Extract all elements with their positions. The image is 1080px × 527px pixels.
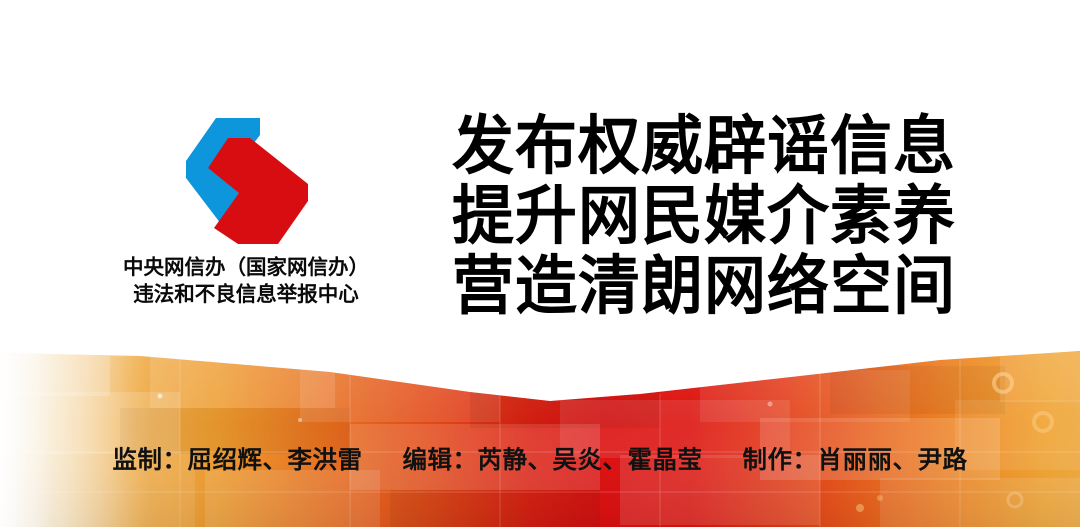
credit-supervisor-names: 屈绍辉、李洪雷: [188, 445, 363, 474]
credit-editor-label: 编辑：: [403, 445, 478, 474]
logo-caption-line-2: 违法和不良信息举报中心: [96, 281, 396, 308]
headline-block: 发布权威辟谣信息 提升网民媒介素养 营造清朗网络空间: [452, 110, 972, 320]
interlocking-chevrons-icon: [186, 118, 308, 244]
cac-logo-block: 中央网信办（国家网信办） 违法和不良信息举报中心: [96, 118, 396, 323]
credit-supervisor-label: 监制：: [113, 445, 188, 474]
headline-line-2: 提升网民媒介素养: [452, 180, 972, 253]
logo-caption-line-1: 中央网信办（国家网信办）: [96, 254, 396, 281]
poster-canvas: 中央网信办（国家网信办） 违法和不良信息举报中心 发布权威辟谣信息 提升网民媒介…: [0, 0, 1080, 527]
credit-editor-names: 芮静、吴炎、霍晶莹: [478, 445, 703, 474]
credits-line: 监制：屈绍辉、李洪雷编辑：芮静、吴炎、霍晶莹制作：肖丽丽、尹路: [0, 441, 1080, 476]
logo-caption: 中央网信办（国家网信办） 违法和不良信息举报中心: [96, 254, 396, 307]
headline-line-3: 营造清朗网络空间: [452, 250, 972, 323]
credit-producer-names: 肖丽丽、尹路: [818, 445, 968, 474]
band-tile-overlays: [0, 352, 1080, 527]
credit-producer-label: 制作：: [743, 445, 818, 474]
headline-line-1: 发布权威辟谣信息: [452, 110, 972, 183]
